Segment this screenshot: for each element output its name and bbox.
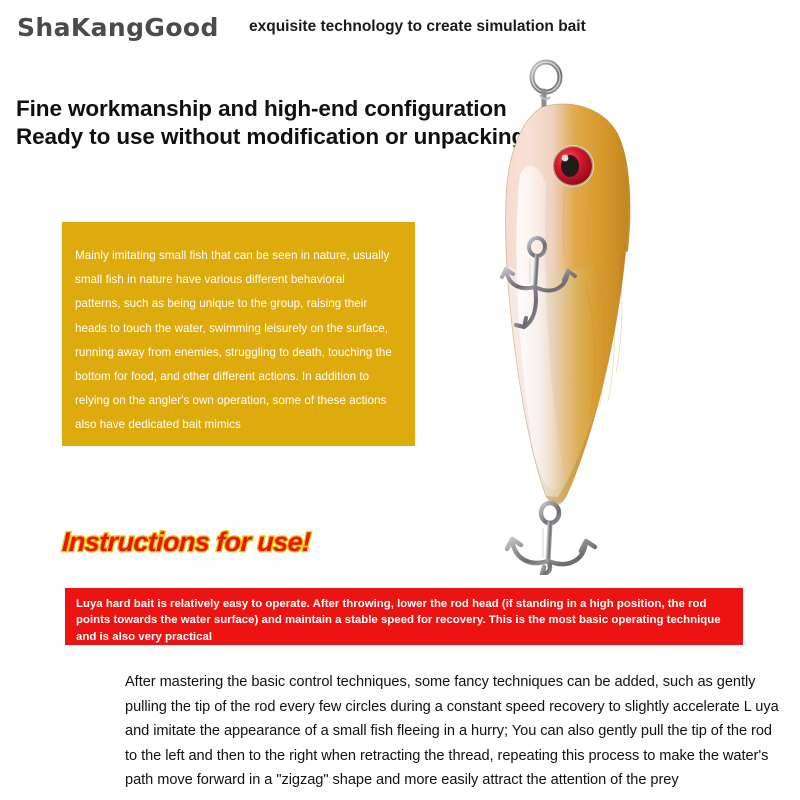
- brand-logo: ShaKangGood: [17, 13, 219, 42]
- description-panel-text: Mainly imitating small fish that can be …: [75, 244, 393, 438]
- description-panel: Mainly imitating small fish that can be …: [62, 222, 415, 446]
- brand-tagline: exquisite technology to create simulatio…: [249, 18, 586, 36]
- instructions-banner-text: Luya hard bait is relatively easy to ope…: [76, 596, 733, 645]
- product-photo-fishing-lure: [480, 55, 710, 575]
- instructions-banner: Luya hard bait is relatively easy to ope…: [65, 588, 743, 645]
- instructions-heading: Instructions for use!: [61, 527, 311, 558]
- treble-hook-tail: [507, 503, 595, 574]
- body-paragraph: After mastering the basic control techni…: [125, 670, 785, 793]
- line-tie-ring-icon: [532, 62, 560, 109]
- lure-eye: [552, 145, 594, 187]
